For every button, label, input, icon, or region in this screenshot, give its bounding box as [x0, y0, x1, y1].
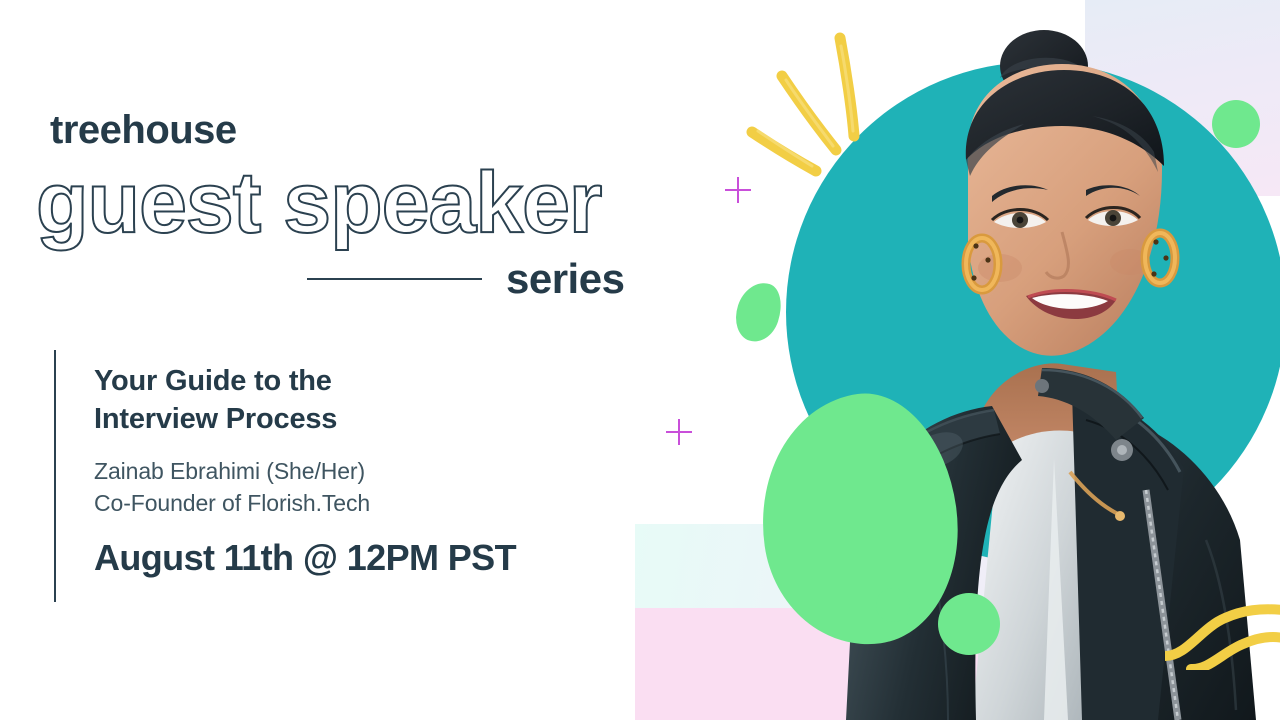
- event-title: Your Guide to the Interview Process: [94, 362, 614, 439]
- green-dot-shape: [938, 593, 1000, 655]
- event-title-line-1: Your Guide to the: [94, 362, 614, 400]
- brand-wordmark: treehouse: [50, 108, 237, 153]
- event-info-block: Your Guide to the Interview Process Zain…: [54, 350, 614, 602]
- sparkle-strokes-icon: [740, 28, 900, 178]
- plus-mark-icon: [666, 419, 692, 445]
- slide-canvas: treehouse guest speaker series Your Guid…: [0, 0, 1280, 720]
- speaker-role: Co-Founder of Florish.Tech: [94, 487, 614, 520]
- hero-outline-title: guest speaker: [36, 158, 601, 248]
- squiggle-strokes-icon: [1165, 590, 1280, 670]
- speaker-details: Zainab Ebrahimi (She/Her) Co-Founder of …: [94, 455, 614, 520]
- speaker-name: Zainab Ebrahimi (She/Her): [94, 455, 614, 488]
- green-blob-shape: [729, 277, 788, 347]
- series-label: series: [506, 255, 624, 303]
- event-date-time: August 11th @ 12PM PST: [94, 538, 614, 578]
- plus-mark-icon: [725, 177, 751, 203]
- green-dot-shape: [876, 588, 910, 622]
- series-divider-rule: [307, 278, 482, 280]
- event-title-line-2: Interview Process: [94, 400, 614, 438]
- series-row: series: [307, 255, 624, 303]
